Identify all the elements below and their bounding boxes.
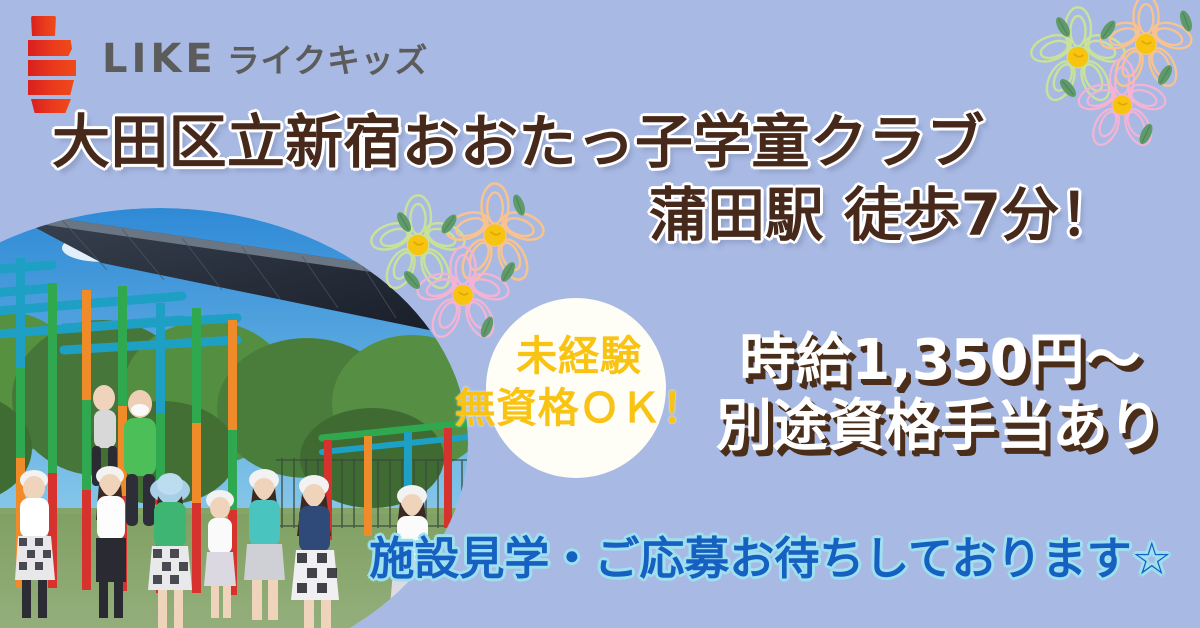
wage-hourly-rate: 時給1,350円〜 — [690, 328, 1190, 394]
brand-name-en: LIKE — [102, 36, 217, 82]
like-bars-logo-icon — [26, 14, 84, 104]
brand-name: LIKEライクキッズ — [102, 39, 428, 79]
brand-logo[interactable]: LIKEライクキッズ — [26, 14, 428, 104]
headline-line-1: 大田区立新宿おおたっ子学童クラブ — [0, 112, 1200, 173]
brand-name-jp: ライクキッズ — [227, 41, 428, 80]
wage-qualification-allowance: 別途資格手当あり — [690, 394, 1190, 460]
page-title: 大田区立新宿おおたっ子学童クラブ 蒲田駅 徒歩7分！ — [0, 112, 1200, 247]
headline-line-2: 蒲田駅 徒歩7分！ — [0, 185, 1200, 246]
wage-block: 時給1,350円〜 別途資格手当あり — [690, 328, 1190, 460]
job-advert-poster: LIKEライクキッズ 大田区立新宿おおたっ子学童クラブ 蒲田駅 徒歩7分！ 未経… — [0, 0, 1200, 628]
cta-text: 施設見学・ご応募お待ちしております☆ — [0, 536, 1200, 581]
